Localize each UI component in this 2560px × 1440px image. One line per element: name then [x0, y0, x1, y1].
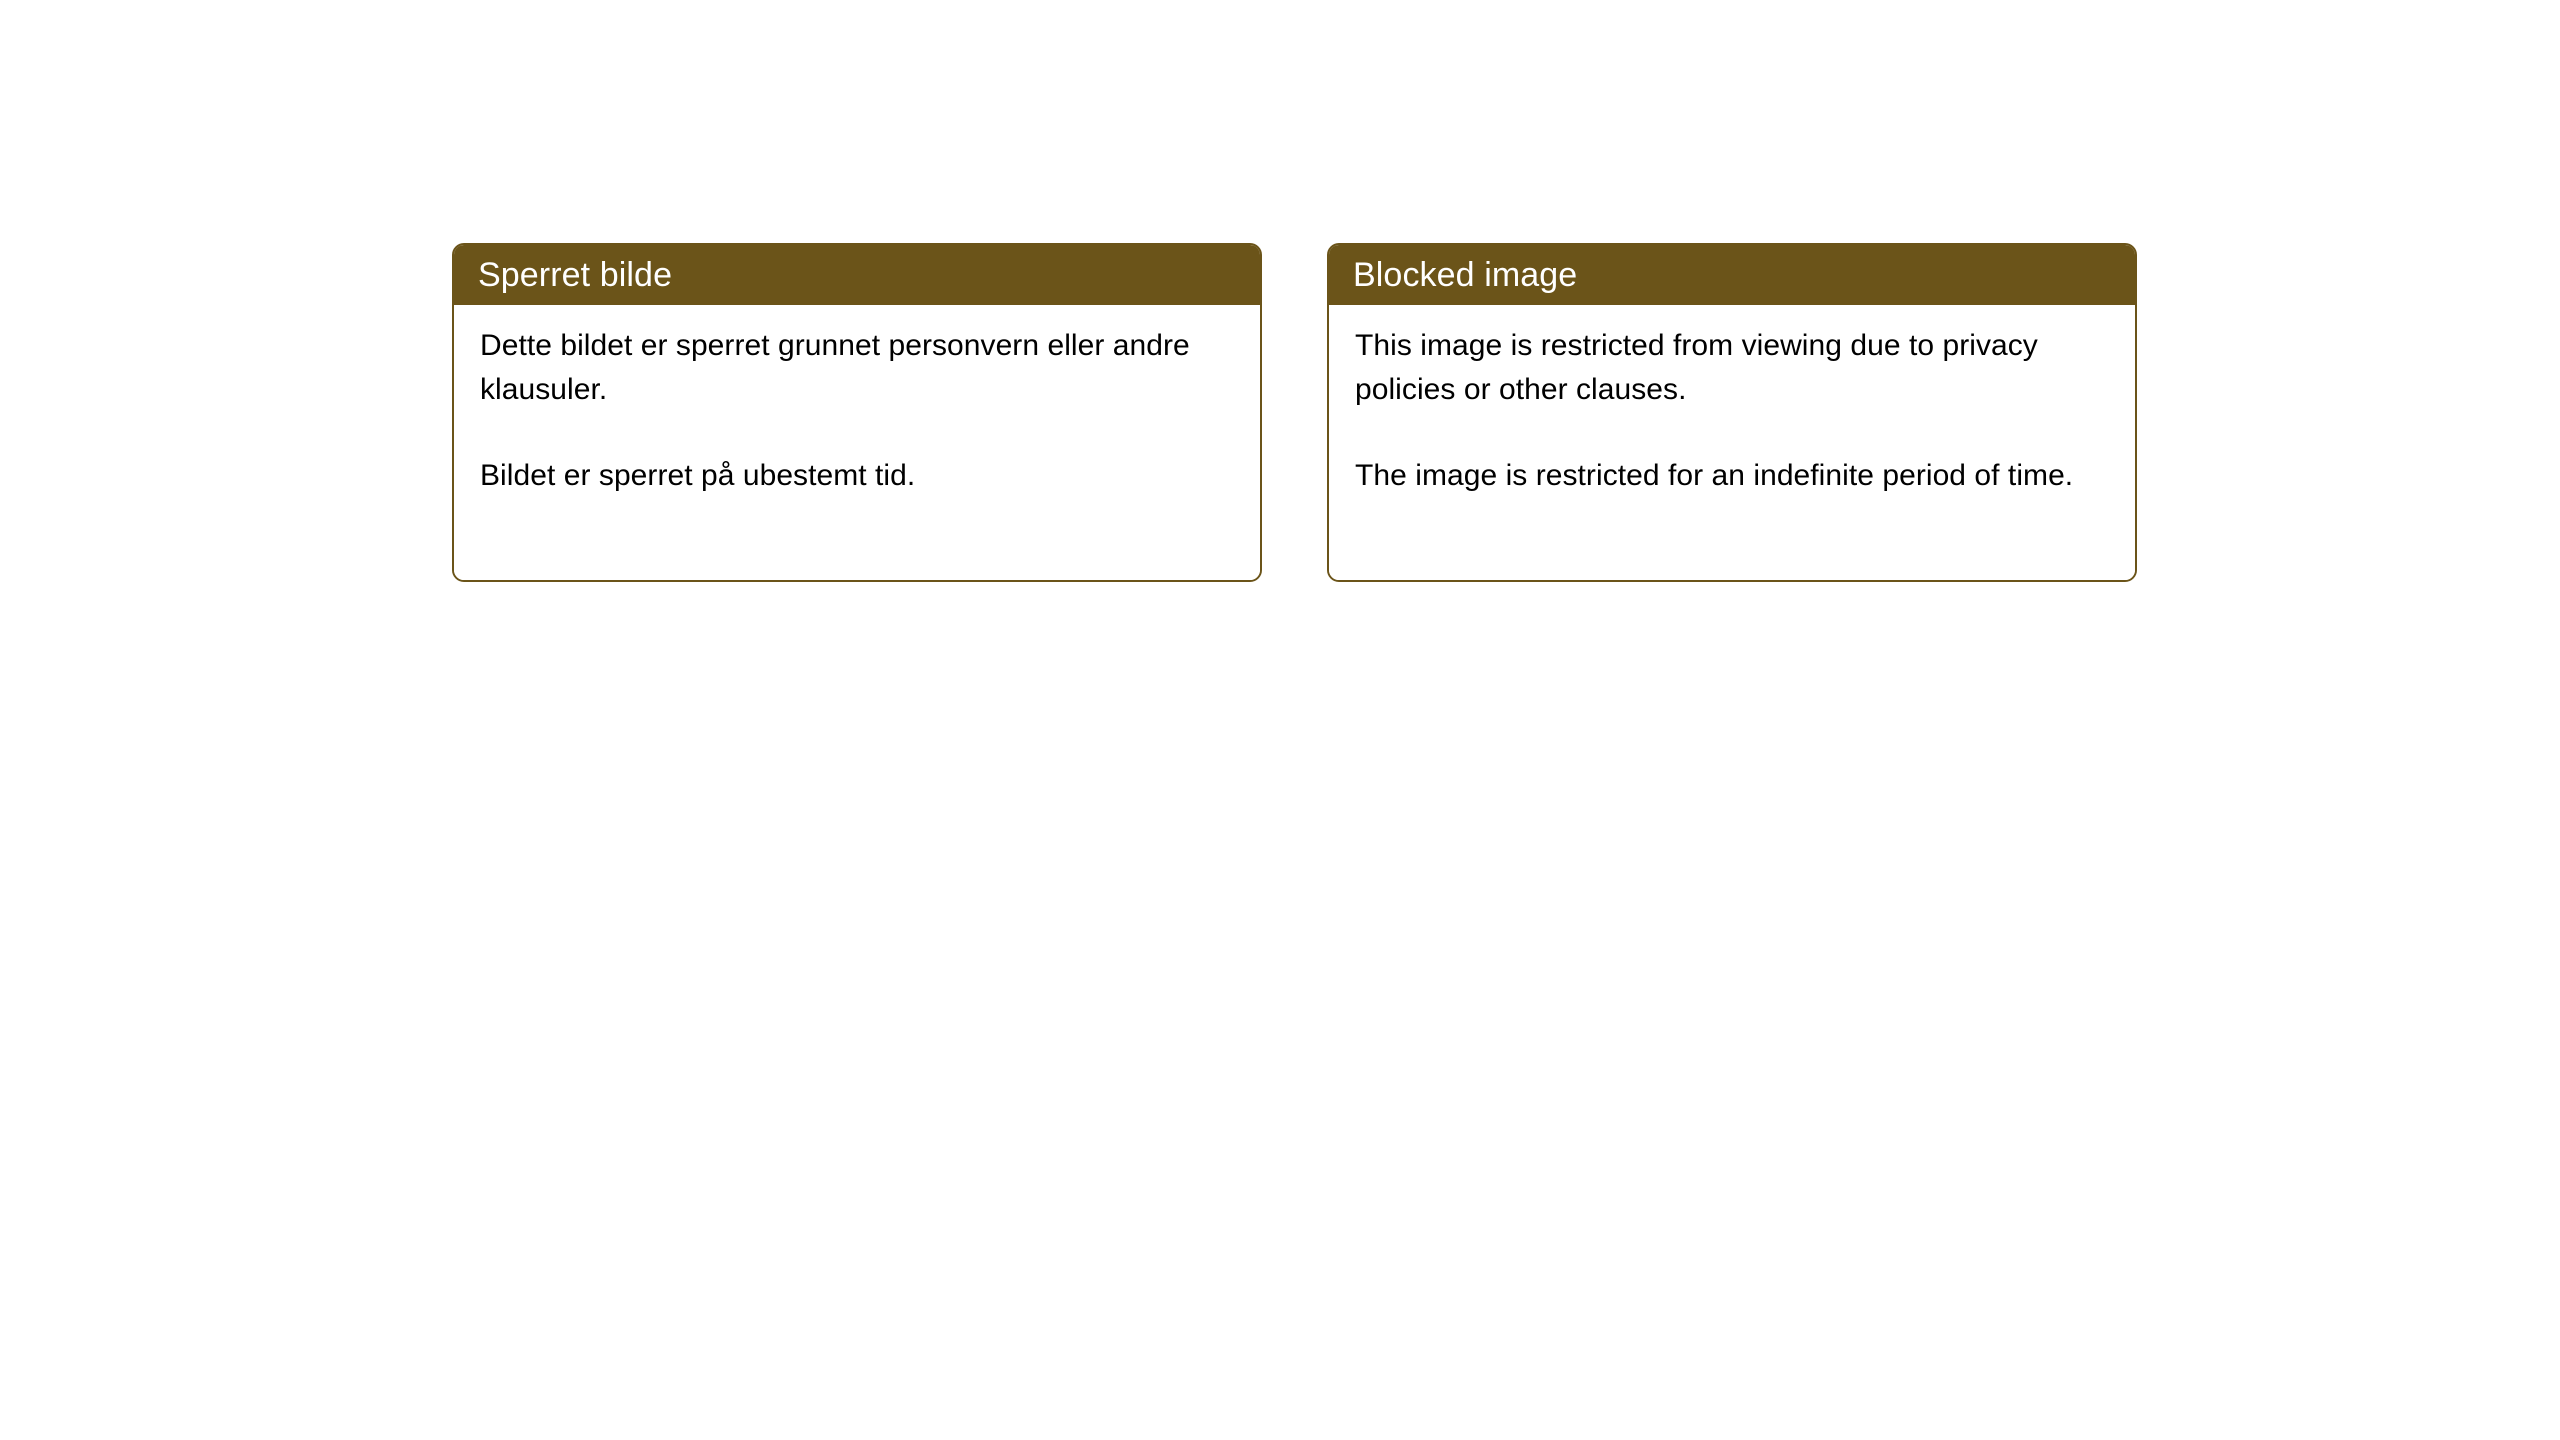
panel-title-norwegian: Sperret bilde	[478, 256, 672, 294]
blocked-image-notice-norwegian: Sperret bilde Dette bildet er sperret gr…	[452, 243, 1262, 582]
panel-body-english: This image is restricted from viewing du…	[1329, 305, 2135, 580]
panel-header-norwegian: Sperret bilde	[454, 245, 1260, 305]
blocked-image-notice-english: Blocked image This image is restricted f…	[1327, 243, 2137, 582]
panel-title-english: Blocked image	[1353, 256, 1577, 294]
panel-paragraph-norwegian-1: Dette bildet er sperret grunnet personve…	[480, 324, 1234, 412]
panel-paragraph-norwegian-2: Bildet er sperret på ubestemt tid.	[480, 454, 1234, 498]
panel-header-english: Blocked image	[1329, 245, 2135, 305]
panel-paragraph-english-1: This image is restricted from viewing du…	[1355, 324, 2109, 412]
panel-paragraph-english-2: The image is restricted for an indefinit…	[1355, 454, 2109, 498]
page-canvas: Sperret bilde Dette bildet er sperret gr…	[0, 0, 2560, 1440]
panel-body-norwegian: Dette bildet er sperret grunnet personve…	[454, 305, 1260, 580]
